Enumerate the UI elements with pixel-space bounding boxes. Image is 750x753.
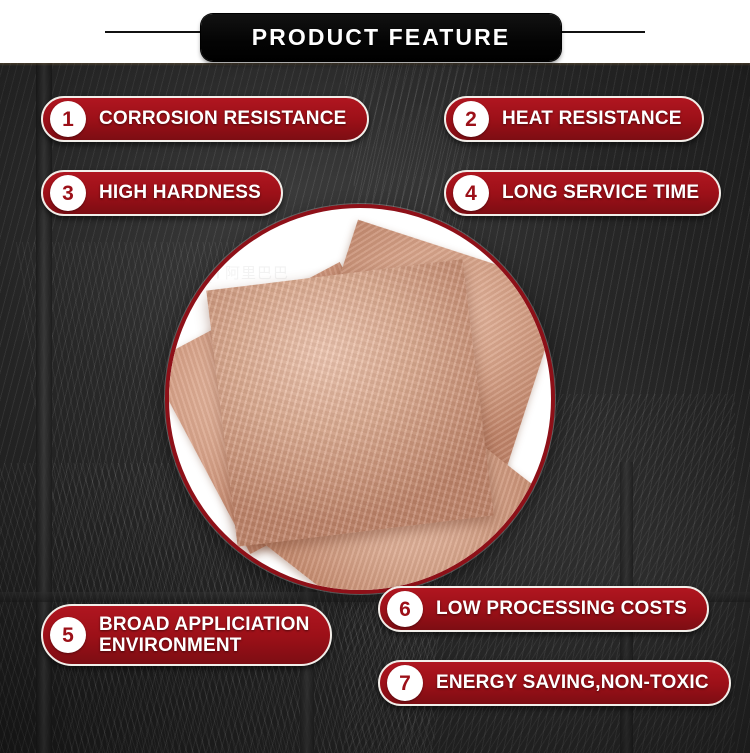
feature-number-1: 1 — [50, 101, 86, 137]
feature-badge-6[interactable]: 6 LOW PROCESSING COSTS — [378, 586, 709, 632]
feature-number-5: 5 — [50, 617, 86, 653]
feature-label-5: BROAD APPLICIATION ENVIRONMENT — [99, 614, 310, 657]
feature-number-6: 6 — [387, 591, 423, 627]
watermark-text: 阿里巴巴 — [225, 262, 289, 283]
watermark: 阿里巴巴 — [197, 260, 289, 284]
feature-number-4: 4 — [453, 175, 489, 211]
feature-label-1: CORROSION RESISTANCE — [99, 108, 347, 129]
feature-badge-3[interactable]: 3 HIGH HARDNESS — [41, 170, 283, 216]
feature-label-7: ENERGY SAVING,NON-TOXIC — [436, 672, 709, 693]
feature-badge-1[interactable]: 1 CORROSION RESISTANCE — [41, 96, 369, 142]
feature-number-3: 3 — [50, 175, 86, 211]
feature-badge-5[interactable]: 5 BROAD APPLICIATION ENVIRONMENT — [41, 604, 332, 666]
feature-label-4: LONG SERVICE TIME — [502, 182, 699, 203]
feature-label-3: HIGH HARDNESS — [99, 182, 261, 203]
feature-label-2: HEAT RESISTANCE — [502, 108, 682, 129]
feature-number-2: 2 — [453, 101, 489, 137]
feature-badge-4[interactable]: 4 LONG SERVICE TIME — [444, 170, 721, 216]
feature-badge-2[interactable]: 2 HEAT RESISTANCE — [444, 96, 704, 142]
watermark-logo-icon — [197, 260, 219, 284]
feature-label-6: LOW PROCESSING COSTS — [436, 598, 687, 619]
page-title: PRODUCT FEATURE — [201, 14, 561, 61]
product-feature-poster: 阿里巴巴 PRODUCT FEATURE 1 CORROSION RESISTA… — [0, 0, 750, 753]
copper-sheet-front — [206, 259, 494, 547]
product-image-circle: 阿里巴巴 — [165, 204, 555, 594]
feature-badge-7[interactable]: 7 ENERGY SAVING,NON-TOXIC — [378, 660, 731, 706]
feature-number-7: 7 — [387, 665, 423, 701]
page-title-text: PRODUCT FEATURE — [252, 24, 511, 51]
